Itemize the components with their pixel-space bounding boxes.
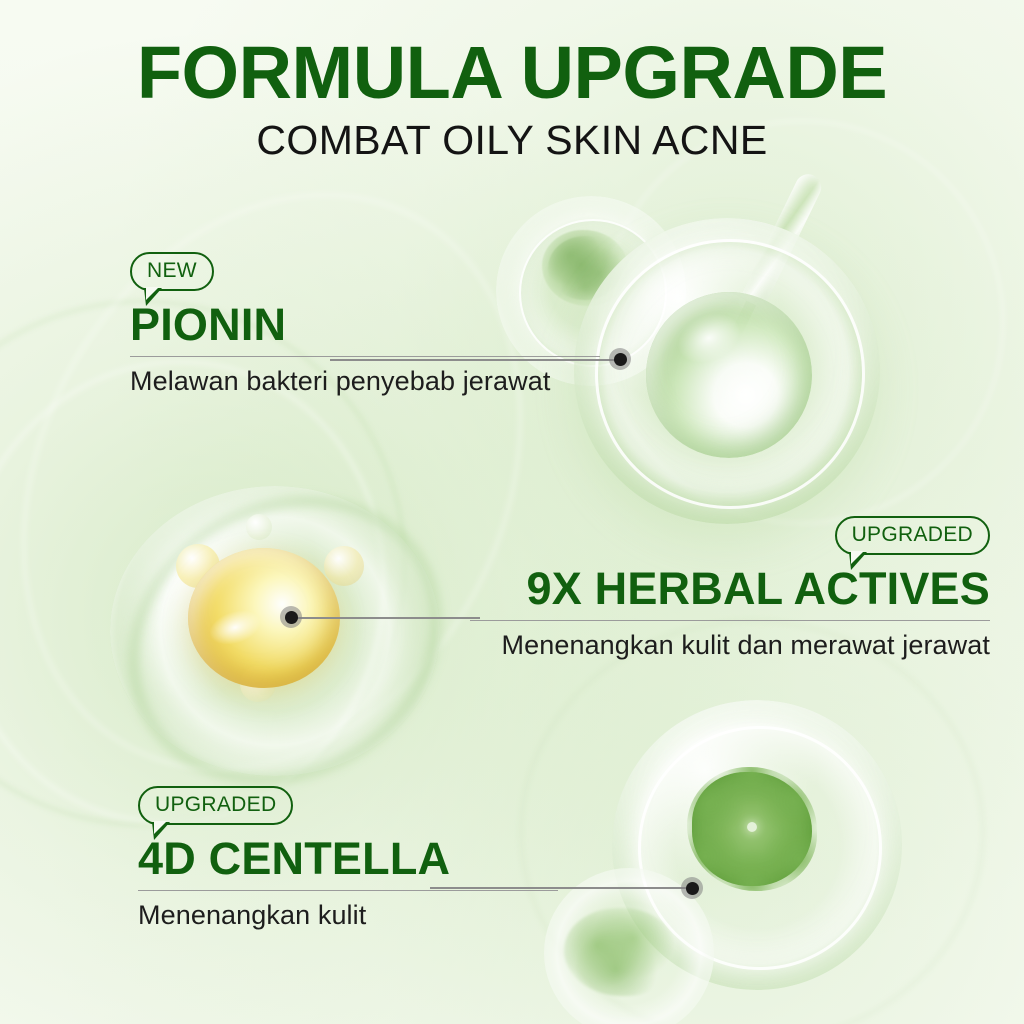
feature-block-herbal-actives: UPGRADED 9X HERBAL ACTIVES Menenangkan k…	[470, 516, 990, 661]
bubble-icon-2	[324, 546, 364, 586]
bubble-icon-3	[246, 514, 272, 540]
page-title: FORMULA UPGRADE	[0, 34, 1024, 112]
gel-sphere-image	[574, 218, 880, 524]
callout-dot-centella	[681, 877, 703, 899]
swirl-arc-5	[600, 120, 1004, 524]
poster-header: FORMULA UPGRADE COMBAT OILY SKIN ACNE	[0, 34, 1024, 163]
feature-divider-centella	[138, 890, 558, 891]
feature-description-centella: Menenangkan kulit	[138, 899, 558, 931]
bubble-icon-4	[240, 666, 276, 702]
bubble-icon-1	[176, 544, 220, 588]
feature-block-pionin: NEW PIONIN Melawan bakteri penyebab jera…	[130, 252, 600, 397]
feature-description-herbal-actives: Menenangkan kulit dan merawat jerawat	[470, 629, 990, 661]
feature-description-pionin: Melawan bakteri penyebab jerawat	[130, 365, 600, 397]
feature-divider-pionin	[130, 356, 600, 357]
feature-divider-herbal-actives	[470, 620, 990, 621]
swirl-arc-4	[520, 620, 984, 1024]
page-subtitle: COMBAT OILY SKIN ACNE	[0, 118, 1024, 163]
pipette-icon	[736, 170, 825, 316]
gel-sphere-core	[646, 292, 812, 458]
centella-bowl-image	[612, 700, 902, 990]
feature-block-centella: UPGRADED 4D CENTELLA Menenangkan kulit	[138, 786, 558, 931]
product-infographic-poster: FORMULA UPGRADE COMBAT OILY SKIN ACNE NE…	[0, 0, 1024, 1024]
badge-new: NEW	[130, 252, 214, 291]
callout-dot-pionin	[609, 348, 631, 370]
feature-title-centella: 4D CENTELLA	[138, 835, 558, 884]
swirl-arc-3	[0, 106, 619, 857]
feature-title-herbal-actives: 9X HERBAL ACTIVES	[470, 565, 990, 614]
badge-upgraded-centella: UPGRADED	[138, 786, 293, 825]
callout-dot-herbal-actives	[280, 606, 302, 628]
swirl-arc-2	[0, 321, 428, 863]
leader-line-herbal-actives	[290, 617, 480, 619]
centella-leaf-cluster-icon	[564, 908, 676, 996]
feature-title-pionin: PIONIN	[130, 301, 600, 350]
centella-leaf-icon	[692, 772, 812, 886]
oil-swirl-image	[110, 486, 440, 776]
badge-upgraded-herbal: UPGRADED	[835, 516, 990, 555]
